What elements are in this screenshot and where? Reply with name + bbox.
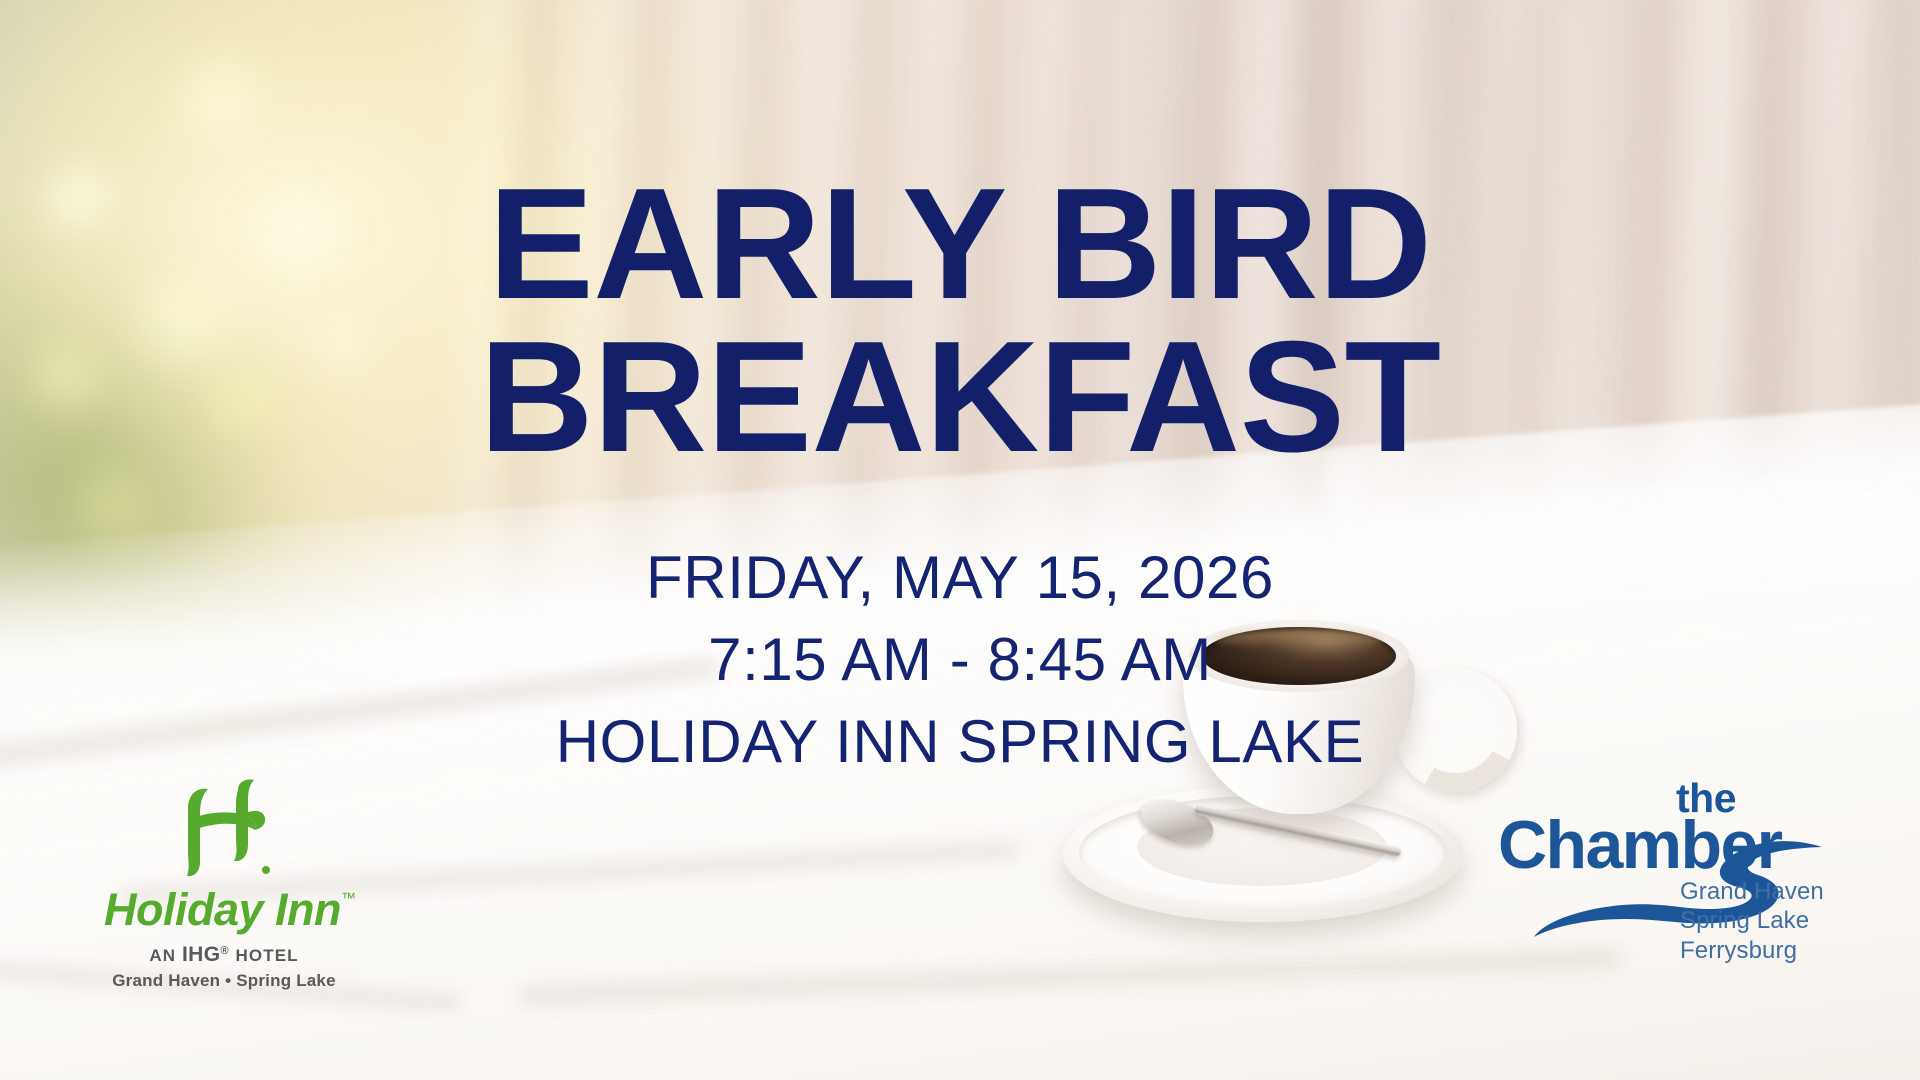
holiday-inn-logo: Holiday Inn™ AN IHG® HOTEL Grand Haven •…	[104, 778, 344, 991]
trademark-symbol: ™	[341, 890, 356, 907]
affiliation-prefix: AN	[149, 946, 182, 965]
event-time: 7:15 AM - 8:45 AM	[0, 625, 1920, 694]
headline-line-1: EARLY BIRD	[0, 168, 1920, 321]
early-bird-breakfast-flyer: EARLY BIRD BREAKFAST FRIDAY, MAY 15, 202…	[0, 0, 1920, 1080]
bokeh-dot	[160, 40, 280, 160]
chamber-name: Chamber	[1498, 806, 1782, 884]
chamber-logo: the Chamber Grand Haven Spring Lake Ferr…	[1498, 775, 1828, 960]
event-date: FRIDAY, MAY 15, 2026	[0, 543, 1920, 612]
affiliation-suffix: HOTEL	[230, 946, 299, 965]
chamber-town: Grand Haven	[1680, 877, 1824, 906]
headline-block: EARLY BIRD BREAKFAST	[0, 168, 1920, 475]
registered-symbol: ®	[220, 945, 229, 957]
page-title: EARLY BIRD BREAKFAST	[0, 168, 1920, 475]
holiday-inn-h-mark-icon	[168, 778, 280, 882]
holiday-inn-location: Grand Haven • Spring Lake	[104, 971, 344, 991]
holiday-inn-wordmark-text: Holiday Inn	[104, 884, 341, 935]
chamber-towns: Grand Haven Spring Lake Ferrysburg	[1680, 877, 1824, 965]
ihg-brand: IHG	[182, 943, 221, 966]
holiday-inn-affiliation: AN IHG® HOTEL	[104, 943, 344, 967]
headline-line-2: BREAKFAST	[0, 321, 1920, 474]
chamber-town: Spring Lake	[1680, 906, 1824, 935]
chamber-town: Ferrysburg	[1680, 936, 1824, 965]
event-venue: HOLIDAY INN SPRING LAKE	[0, 707, 1920, 776]
holiday-inn-wordmark: Holiday Inn™	[104, 884, 344, 936]
